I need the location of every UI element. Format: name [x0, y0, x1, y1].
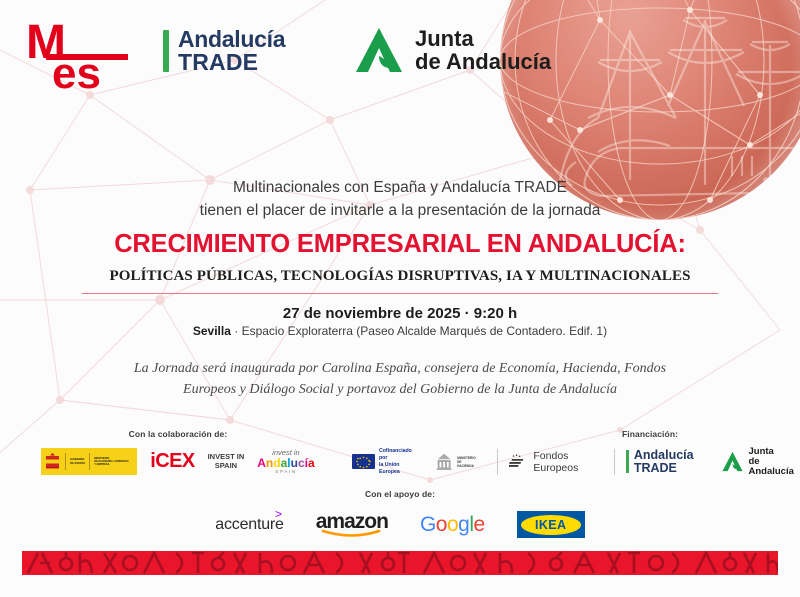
invandal-line3: SPAIN: [257, 470, 314, 475]
financing-section: Financiación: Cofinanci: [352, 429, 798, 477]
logo-amazon: amazon: [316, 511, 388, 538]
intro-line-2: tienen el placer de invitarle a la prese…: [0, 199, 800, 222]
logo-mes: M es: [24, 18, 134, 95]
logo-icex: iCEX: [150, 450, 194, 473]
logo-junta-de-andalucia: Junta de Andalucía: [355, 26, 551, 74]
andalucia-a-mark-icon: [355, 26, 405, 74]
venue-detail: · Espacio Exploraterra (Paseo Alcalde Ma…: [231, 324, 607, 338]
google-letter-6: e: [474, 513, 485, 536]
logo-invest-in-andalucia: invest in Andalucía SPAIN: [257, 449, 314, 475]
venue-city: Sevilla: [193, 324, 231, 338]
ministerio-hacienda-text: MINISTERIO DE HACIENDA: [457, 456, 477, 468]
divider-rule: [82, 293, 718, 294]
logo-gobierno-de-espana: GOBIERNO DE ESPAÑA MINISTERIO DE ECONOMÍ…: [41, 448, 137, 475]
logo-google: Google: [420, 513, 485, 537]
collaboration-label: Con la colaboración de:: [18, 429, 338, 439]
fondos-europeos-mark-icon: [509, 451, 527, 473]
trade-green-bar: [163, 30, 169, 72]
eu-flag-icon: [352, 454, 375, 469]
support-label: Con el apoyo de:: [0, 489, 800, 499]
amazon-text: amazon: [316, 510, 388, 533]
trade-line1: Andalucía: [178, 28, 285, 51]
event-title: CRECIMIENTO EMPRESARIAL EN ANDALUCÍA:: [0, 230, 800, 259]
accenture-arrow-icon: >: [275, 507, 282, 521]
logo-andalucia-trade-small: Andalucía TRADE: [626, 449, 694, 475]
logo-accenture: > accenture: [215, 516, 283, 534]
google-letter-2: o: [436, 513, 447, 536]
svg-text:es: es: [52, 49, 101, 90]
invitation-page: M es Andalucía TRADE Junta de Andalucía: [0, 0, 800, 597]
fondos-europeos-text: Fondos Europeos: [533, 450, 596, 474]
spain-crest-icon: [434, 451, 454, 473]
financing-divider: [497, 449, 498, 475]
header-logo-bar: M es Andalucía TRADE Junta de Andalucía: [0, 0, 800, 108]
logo-andalucia-trade: Andalucía TRADE: [163, 28, 285, 74]
collaboration-section: Con la colaboración de: GOBIERNO DE ESPA…: [18, 429, 338, 475]
financing-label: Financiación:: [502, 429, 798, 439]
andalucia-a-mark-small-icon: [722, 449, 744, 474]
logo-fondos-europeos: Fondos Europeos: [509, 450, 596, 474]
logo-junta-de-andalucia-small: Junta de Andalucía: [722, 447, 798, 477]
footer-pattern-art: [22, 551, 778, 575]
logo-invest-in-spain: INVEST IN SPAIN: [208, 453, 245, 470]
junta-line2: de Andalucía: [415, 50, 551, 73]
footer-pattern-band: [22, 551, 778, 575]
google-letter-4: g: [458, 513, 469, 536]
inauguration-line-2: Europeos y Diálogo Social y portavoz del…: [95, 379, 705, 400]
junta-line1: Junta: [415, 27, 551, 50]
event-date: 27 de noviembre de 2025 · 9:20 h: [0, 305, 800, 322]
intro-text: Multinacionales con España y Andalucía T…: [0, 176, 800, 223]
accenture-text: accenture: [215, 516, 283, 533]
trade-small-line2: TRADE: [634, 462, 694, 475]
logo-ikea: IKEA: [517, 511, 585, 538]
invandal-line2: Andalucía: [257, 457, 314, 469]
inauguration-line-1: La Jornada será inaugurada por Carolina …: [95, 358, 705, 379]
inauguration-note: La Jornada será inaugurada por Carolina …: [95, 358, 705, 400]
trade-green-bar-small: [626, 450, 629, 473]
support-section: Con el apoyo de: > accenture amazon Goog…: [0, 489, 800, 538]
ikea-text: IKEA: [535, 518, 566, 532]
trade-line2: TRADE: [178, 51, 285, 74]
invandal-line1: invest in: [257, 449, 314, 457]
google-letter-3: o: [447, 513, 458, 536]
financing-divider-2: [614, 449, 615, 475]
logo-ministerio-de-hacienda: MINISTERIO DE HACIENDA: [434, 451, 478, 473]
google-letter-1: G: [420, 513, 436, 536]
junta-small-line2: de Andalucía: [748, 457, 798, 477]
gobierno-text: GOBIERNO DE ESPAÑA: [70, 458, 85, 464]
event-venue: Sevilla · Espacio Exploraterra (Paseo Al…: [0, 324, 800, 338]
cofinanciado-text: Cofinanciado por la Unión Europea: [379, 448, 412, 475]
investin-line2: SPAIN: [208, 462, 245, 471]
event-subtitle: POLÍTICAS PÚBLICAS, TECNOLOGÍAS DISRUPTI…: [0, 268, 800, 285]
spain-coat-of-arms-icon: [44, 452, 61, 472]
logo-cofinanciado-union-europea: Cofinanciado por la Unión Europea: [352, 448, 412, 475]
intro-line-1: Multinacionales con España y Andalucía T…: [0, 176, 800, 199]
ministerio-economia-text: MINISTERIO DE ECONOMÍA, COMERCIO Y EMPRE…: [94, 457, 128, 467]
